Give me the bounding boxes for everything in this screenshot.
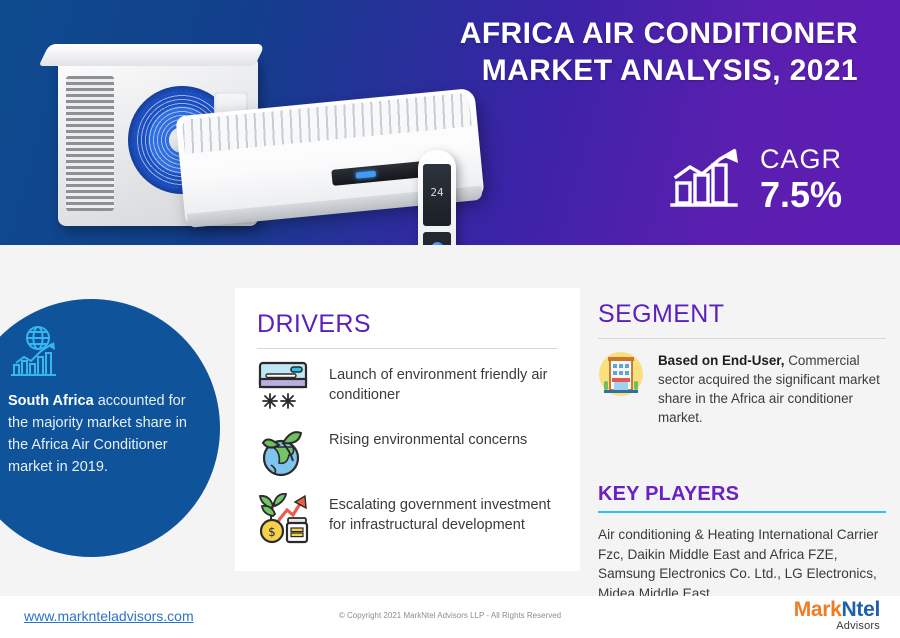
highlight-bold: South Africa <box>8 393 94 409</box>
driver-text: Launch of environment friendly air condi… <box>329 360 560 405</box>
bar-chart-growth-icon <box>670 147 746 213</box>
driver-item: $ Escalating government investment for i… <box>235 479 580 544</box>
driver-item: Rising environmental concerns <box>235 414 580 479</box>
driver-text: Escalating government investment for inf… <box>329 490 560 535</box>
logo-mark-text: Mark <box>794 598 842 621</box>
footer-bar: www.marknteladvisors.com © Copyright 202… <box>0 596 900 638</box>
outdoor-unit-top <box>39 44 266 66</box>
cagr-label: CAGR <box>760 146 842 173</box>
air-conditioner-snowflake-icon <box>257 360 313 414</box>
segment-section: SEGMENT Based on End-User, Commercial se… <box>598 300 886 427</box>
segment-text: Based on End-User, Commercial sector acq… <box>658 351 886 427</box>
drivers-card: DRIVERS Launch of environment friendly a… <box>235 288 580 571</box>
cagr-block: CAGR 7.5% <box>670 146 842 213</box>
cagr-text: CAGR 7.5% <box>760 146 842 213</box>
title-line-1: AFRICA AIR CONDITIONER <box>460 16 858 53</box>
key-players-list: Air conditioning & Heating International… <box>598 525 886 603</box>
earth-leaves-icon <box>257 425 313 479</box>
markntel-logo: MarkNtel Advisors <box>794 599 880 632</box>
title-line-2: MARKET ANALYSIS, 2021 <box>460 53 858 90</box>
key-players-divider <box>598 511 886 513</box>
remote-lcd-screen <box>423 164 451 226</box>
money-growth-arrow-icon: $ <box>257 490 313 544</box>
svg-text:$: $ <box>268 525 276 539</box>
logo-ntel-text: Ntel <box>842 598 880 621</box>
driver-text: Rising environmental concerns <box>329 425 527 451</box>
key-players-section: KEY PLAYERS Air conditioning & Heating I… <box>598 483 886 603</box>
logo-wordmark: MarkNtel <box>794 599 880 620</box>
highlight-text: South Africa accounted for the majority … <box>8 390 196 478</box>
cagr-value: 7.5% <box>760 177 842 213</box>
header-banner: AFRICA AIR CONDITIONER MARKET ANALYSIS, … <box>0 0 900 245</box>
outdoor-unit-grille <box>66 76 114 211</box>
segment-bold: Based on End-User, <box>658 353 785 368</box>
commercial-building-icon <box>598 351 644 397</box>
segment-row: Based on End-User, Commercial sector acq… <box>598 351 886 427</box>
driver-item: Launch of environment friendly air condi… <box>235 349 580 414</box>
key-players-title: KEY PLAYERS <box>598 483 886 506</box>
page-title: AFRICA AIR CONDITIONER MARKET ANALYSIS, … <box>460 16 858 89</box>
segment-title: SEGMENT <box>598 300 886 329</box>
globe-bar-chart-icon <box>8 325 66 377</box>
segment-divider <box>598 338 886 339</box>
logo-subtitle: Advisors <box>794 621 880 632</box>
drivers-title: DRIVERS <box>257 310 580 339</box>
copyright-text: © Copyright 2021 MarkNtel Advisors LLP -… <box>0 611 900 620</box>
